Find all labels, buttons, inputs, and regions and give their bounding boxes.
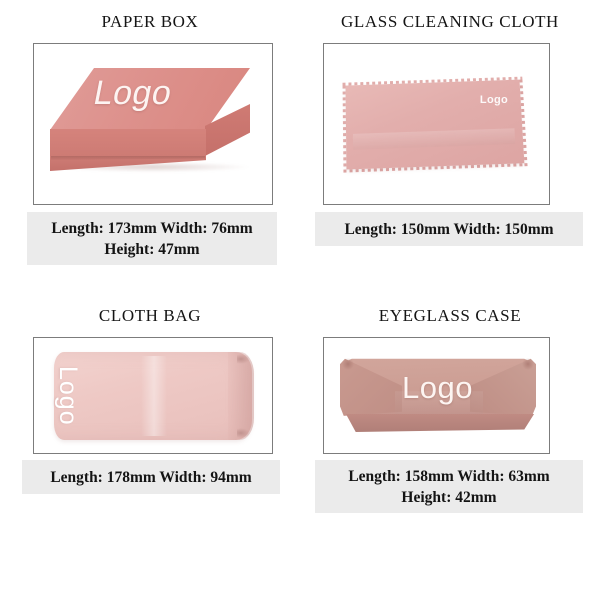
- caption-line-primary: Length: 150mm Width: 150mm: [344, 219, 553, 240]
- product-title-glass-cleaning-cloth: GLASS CLEANING CLOTH: [300, 12, 600, 32]
- product-caption-eyeglass-case: Length: 158mm Width: 63mm Height: 42mm: [315, 460, 583, 513]
- product-cell-glass-cleaning-cloth: GLASS CLEANING CLOTH Logo Length: 150mm …: [300, 0, 600, 300]
- product-photo-frame-glass-cleaning-cloth: Logo: [323, 43, 550, 205]
- product-title-eyeglass-case: EYEGLASS CASE: [300, 306, 600, 326]
- eyeglass-case-corner-left: [342, 358, 354, 370]
- eyeglass-case-bottom-edge: [342, 414, 538, 432]
- paper-box-illustration: Logo: [34, 44, 272, 204]
- eyeglass-case-corner-right: [522, 358, 534, 370]
- product-photo-frame-eyeglass-case: Logo: [323, 337, 550, 454]
- eyeglass-case-illustration: Logo: [340, 356, 536, 436]
- product-photo-frame-cloth-bag: Logo: [33, 337, 273, 454]
- cloth-bag-illustration: Logo: [54, 352, 252, 440]
- product-title-paper-box: PAPER BOX: [0, 12, 300, 32]
- product-photo-frame-paper-box: Logo: [33, 43, 273, 205]
- caption-line-primary: Length: 173mm Width: 76mm: [51, 218, 252, 239]
- paper-box-logo-text: Logo: [90, 74, 175, 113]
- cloth-bag-sheen: [141, 356, 167, 437]
- caption-line-secondary: Height: 47mm: [104, 239, 199, 260]
- cleaning-cloth-illustration: Logo: [346, 82, 522, 166]
- caption-line-primary: Length: 158mm Width: 63mm: [348, 466, 549, 487]
- eyeglass-case-logo-text: Logo: [402, 370, 473, 406]
- cloth-bag-corner-pinch-top: [237, 354, 250, 364]
- cloth-bag-drawstring-cinch: [228, 352, 254, 440]
- caption-line-primary: Length: 178mm Width: 94mm: [50, 467, 251, 488]
- product-specification-sheet: PAPER BOX Logo Length: 173mm Width: 76mm…: [0, 0, 600, 600]
- product-caption-cloth-bag: Length: 178mm Width: 94mm: [22, 460, 280, 494]
- cleaning-cloth-logo-text: Logo: [480, 94, 508, 106]
- product-title-cloth-bag: CLOTH BAG: [0, 306, 300, 326]
- product-cell-cloth-bag: CLOTH BAG Logo Length: 178mm Width: 94mm: [0, 300, 300, 600]
- product-caption-glass-cleaning-cloth: Length: 150mm Width: 150mm: [315, 212, 583, 246]
- product-cell-eyeglass-case: EYEGLASS CASE Logo Length: 158mm Width: …: [300, 300, 600, 600]
- cloth-bag-corner-pinch-bottom: [237, 428, 250, 438]
- caption-line-secondary: Height: 42mm: [401, 487, 496, 508]
- product-grid: PAPER BOX Logo Length: 173mm Width: 76mm…: [0, 0, 600, 600]
- product-cell-paper-box: PAPER BOX Logo Length: 173mm Width: 76mm…: [0, 0, 300, 300]
- product-caption-paper-box: Length: 173mm Width: 76mm Height: 47mm: [27, 212, 277, 265]
- cloth-bag-logo-text: Logo: [53, 366, 82, 426]
